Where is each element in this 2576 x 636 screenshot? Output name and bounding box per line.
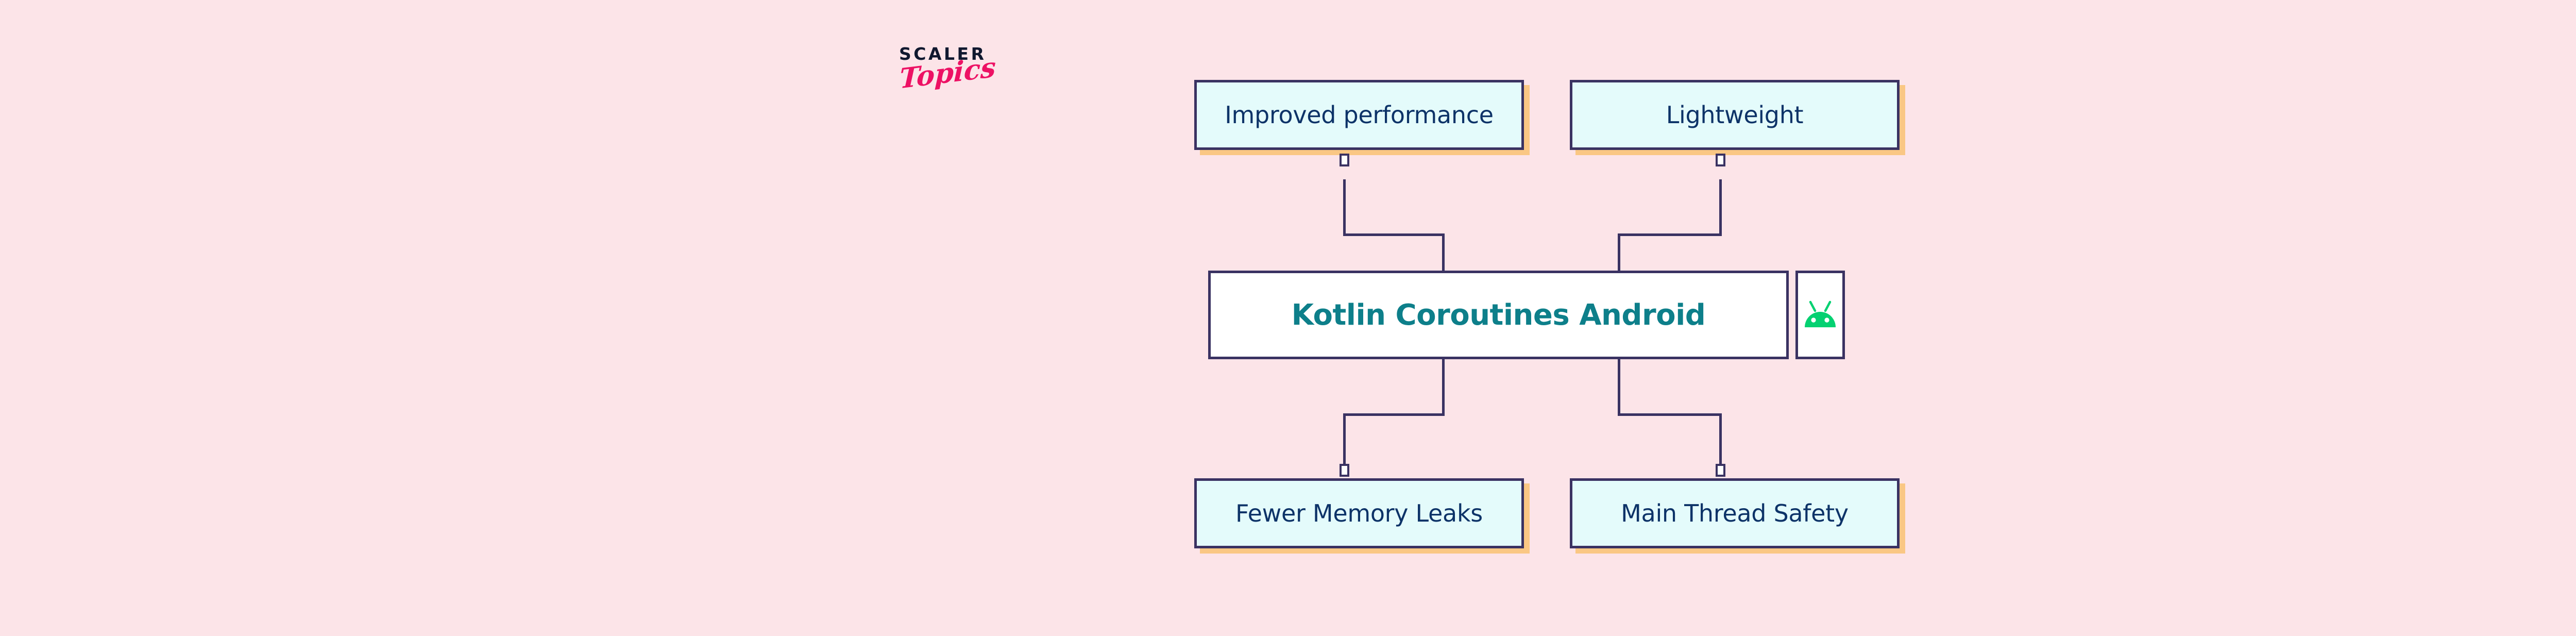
- connector-anchor-main-thread-safety: [1716, 464, 1725, 477]
- connector-bottom-right-horizontal: [1618, 413, 1722, 416]
- connector-top-left-horizontal: [1343, 233, 1445, 236]
- connector-anchor-improved-performance: [1340, 154, 1349, 166]
- android-robot-icon: [1802, 300, 1838, 330]
- connector-bottom-left-horizontal: [1343, 413, 1445, 416]
- node-fewer-memory-leaks[interactable]: Fewer Memory Leaks: [1194, 478, 1524, 548]
- connector-bottom-left-vertical-upper: [1442, 359, 1445, 416]
- node-lightweight[interactable]: Lightweight: [1570, 80, 1900, 150]
- node-main-thread-safety[interactable]: Main Thread Safety: [1570, 478, 1900, 548]
- connector-bottom-right-vertical-lower: [1719, 413, 1722, 468]
- connector-anchor-fewer-memory-leaks: [1340, 464, 1349, 477]
- node-label: Improved performance: [1225, 101, 1494, 129]
- node-label: Fewer Memory Leaks: [1235, 499, 1483, 527]
- center-node-label: Kotlin Coroutines Android: [1292, 298, 1706, 332]
- android-icon-box[interactable]: [1795, 271, 1845, 359]
- scaler-topics-logo: SCALER Topics: [899, 45, 1023, 118]
- connector-anchor-lightweight: [1716, 154, 1725, 166]
- connector-bottom-right-vertical-upper: [1618, 359, 1620, 416]
- connector-top-right-vertical-lower: [1618, 233, 1620, 273]
- node-label: Main Thread Safety: [1621, 499, 1849, 527]
- diagram-canvas: SCALER Topics Improved performance Light…: [0, 0, 2576, 636]
- connector-top-left-vertical-lower: [1442, 233, 1445, 273]
- node-label: Lightweight: [1666, 101, 1804, 129]
- node-improved-performance[interactable]: Improved performance: [1194, 80, 1524, 150]
- connector-top-right-vertical-upper: [1719, 179, 1722, 236]
- connector-bottom-left-vertical-lower: [1343, 413, 1346, 468]
- connector-top-right-horizontal: [1618, 233, 1722, 236]
- connector-top-left-vertical-upper: [1343, 179, 1346, 236]
- node-center-kotlin-coroutines-android[interactable]: Kotlin Coroutines Android: [1208, 271, 1789, 359]
